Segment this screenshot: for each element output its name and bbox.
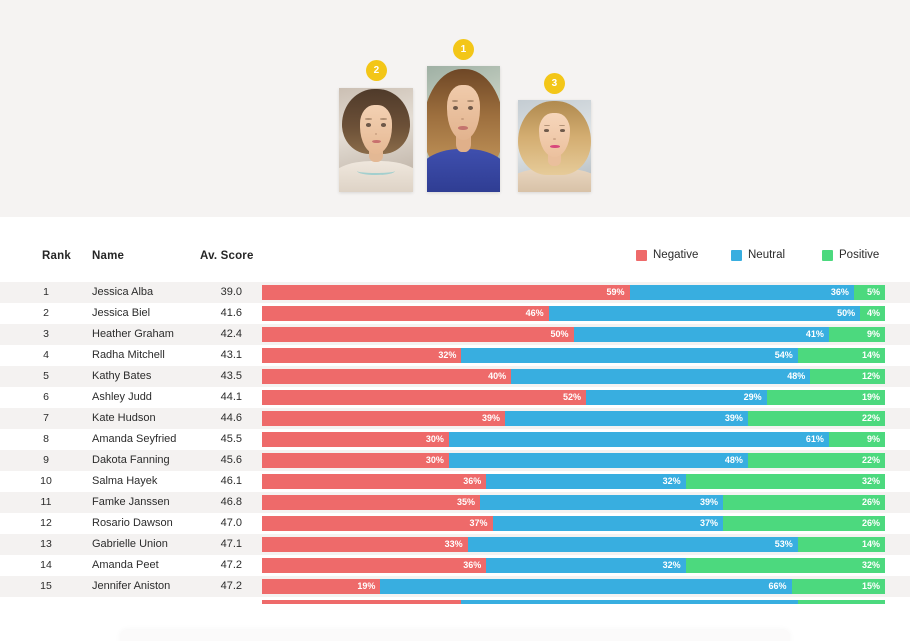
bar-label-neutral: 48% — [787, 369, 810, 384]
cell-name: Famke Janssen — [92, 492, 170, 513]
bar-label-positive: 15% — [862, 579, 885, 594]
stacked-bar: 37%37%26% — [262, 516, 885, 531]
bar-segment-negative: 30% — [262, 453, 449, 468]
table-row[interactable]: 3Heather Graham42.450%41%9% — [0, 324, 910, 345]
bar-segment-positive: 15% — [792, 579, 885, 594]
bar-label-negative: 33% — [445, 537, 468, 552]
table-row[interactable]: 2Jessica Biel41.646%50%4% — [0, 303, 910, 324]
page-bottom-shadow — [120, 630, 790, 641]
stacked-bar: 30%61%9% — [262, 432, 885, 447]
cell-score: 47.2 — [196, 576, 242, 597]
cell-name: Kathy Bates — [92, 366, 151, 387]
cell-rank: 15 — [28, 576, 64, 597]
bar-label-positive: 14% — [862, 537, 885, 552]
table-header-row: Rank Name Av. Score Negative Neutral Pos… — [0, 217, 910, 282]
bar-segment-positive: 26% — [723, 516, 885, 531]
stacked-bar: 36%32%32% — [262, 558, 885, 573]
cell-name: Radha Mitchell — [92, 345, 165, 366]
podium-badge-2: 2 — [366, 60, 387, 81]
bar-label-neutral: 41% — [806, 327, 829, 342]
bar-label-neutral: 66% — [769, 579, 792, 594]
table-row[interactable]: 12Rosario Dawson47.037%37%26% — [0, 513, 910, 534]
bar-segment-neutral: 32% — [486, 474, 685, 489]
table-row[interactable]: 5Kathy Bates43.540%48%12% — [0, 366, 910, 387]
legend-swatch-neutral — [731, 250, 742, 261]
cell-rank: 2 — [28, 303, 64, 324]
cell-rank: 12 — [28, 513, 64, 534]
bar-segment-neutral: 29% — [586, 390, 767, 405]
stacked-bar: 30%48%22% — [262, 453, 885, 468]
cell-name: Heather Graham — [92, 324, 174, 345]
legend-swatch-negative — [636, 250, 647, 261]
cell-rank: 11 — [28, 492, 64, 513]
legend-swatch-positive — [822, 250, 833, 261]
cell-score: 47.0 — [196, 513, 242, 534]
cell-name: Jessica Biel — [92, 303, 150, 324]
stacked-bar: 35%39%26% — [262, 495, 885, 510]
bar-segment-negative: 33% — [262, 537, 468, 552]
legend-label-negative: Negative — [653, 247, 698, 263]
legend-label-positive: Positive — [839, 247, 879, 263]
cell-rank: 9 — [28, 450, 64, 471]
stacked-bar — [262, 600, 885, 604]
bar-label-neutral: 48% — [725, 453, 748, 468]
bar-segment-neutral: 48% — [511, 369, 810, 384]
bar-label-neutral: 32% — [663, 558, 686, 573]
bar-segment-neutral: 48% — [449, 453, 748, 468]
table-row[interactable]: 6Ashley Judd44.152%29%19% — [0, 387, 910, 408]
cell-rank: 5 — [28, 366, 64, 387]
bar-label-neutral: 61% — [806, 432, 829, 447]
table-row[interactable]: 13Gabrielle Union47.133%53%14% — [0, 534, 910, 555]
bar-segment-neutral: 41% — [574, 327, 829, 342]
bar-segment-positive: 14% — [798, 537, 885, 552]
legend-label-neutral: Neutral — [748, 247, 785, 263]
cell-score: 47.1 — [196, 534, 242, 555]
bar-label-neutral: 36% — [831, 285, 854, 300]
cell-rank: 7 — [28, 408, 64, 429]
table-row[interactable]: 8Amanda Seyfried45.530%61%9% — [0, 429, 910, 450]
table-row[interactable]: 9Dakota Fanning45.630%48%22% — [0, 450, 910, 471]
bar-segment-negative: 46% — [262, 306, 549, 321]
table-row[interactable]: 4Radha Mitchell43.132%54%14% — [0, 345, 910, 366]
portrait-image — [518, 100, 591, 192]
stacked-bar: 33%53%14% — [262, 537, 885, 552]
bar-label-negative: 46% — [526, 306, 549, 321]
stacked-bar: 39%39%22% — [262, 411, 885, 426]
bar-segment-positive: 32% — [686, 474, 885, 489]
bar-label-negative: 36% — [463, 474, 486, 489]
podium-photo-jessica-alba[interactable] — [427, 66, 500, 192]
bar-label-positive: 32% — [862, 558, 885, 573]
table-row[interactable]: 1Jessica Alba39.059%36%5% — [0, 282, 910, 303]
cell-score: 45.6 — [196, 450, 242, 471]
cell-rank: 6 — [28, 387, 64, 408]
bar-label-positive: 9% — [867, 432, 885, 447]
bar-segment-negative: 59% — [262, 285, 630, 300]
bar-segment-positive: 19% — [767, 390, 885, 405]
bar-label-negative: 39% — [482, 411, 505, 426]
bar-segment-positive: 9% — [829, 327, 885, 342]
cell-name: Amanda Seyfried — [92, 429, 176, 450]
bar-segment-positive: 26% — [723, 495, 885, 510]
table-row[interactable]: 10Salma Hayek46.136%32%32% — [0, 471, 910, 492]
cell-name: Ashley Judd — [92, 387, 152, 408]
bar-label-negative: 40% — [488, 369, 511, 384]
stacked-bar: 19%66%15% — [262, 579, 885, 594]
portrait-image — [427, 66, 500, 192]
column-header-rank: Rank — [42, 250, 71, 262]
podium-banner: 2 — [0, 0, 910, 217]
cell-rank: 14 — [28, 555, 64, 576]
cell-name: Rosario Dawson — [92, 513, 173, 534]
column-header-name: Name — [92, 250, 124, 262]
stacked-bar: 36%32%32% — [262, 474, 885, 489]
bar-label-positive: 4% — [867, 306, 885, 321]
podium-badge-1: 1 — [453, 39, 474, 60]
podium-badge-3: 3 — [544, 73, 565, 94]
bar-label-negative: 35% — [457, 495, 480, 510]
cell-score: 43.5 — [196, 366, 242, 387]
bar-segment-neutral: 66% — [380, 579, 791, 594]
cell-name: Dakota Fanning — [92, 450, 170, 471]
podium-stage: 2 — [0, 0, 910, 217]
bar-segment-negative: 36% — [262, 558, 486, 573]
table-row[interactable]: 7Kate Hudson44.639%39%22% — [0, 408, 910, 429]
bar-segment-positive: 32% — [686, 558, 885, 573]
stacked-bar: 52%29%19% — [262, 390, 885, 405]
bar-label-neutral: 32% — [663, 474, 686, 489]
bar-label-negative: 30% — [426, 453, 449, 468]
bar-segment-positive: 14% — [798, 348, 885, 363]
bar-label-positive: 26% — [862, 516, 885, 531]
bar-segment-negative: 39% — [262, 411, 505, 426]
cell-rank: 13 — [28, 534, 64, 555]
bar-label-neutral: 37% — [700, 516, 723, 531]
cell-rank: 8 — [28, 429, 64, 450]
cell-score: 46.8 — [196, 492, 242, 513]
table-body: 1Jessica Alba39.059%36%5%2Jessica Biel41… — [0, 282, 910, 597]
bar-segment-negative: 50% — [262, 327, 574, 342]
bar-segment-negative: 35% — [262, 495, 480, 510]
bar-segment-neutral: 32% — [486, 558, 685, 573]
bar-segment-negative: 36% — [262, 474, 486, 489]
column-header-score: Av. Score — [200, 250, 254, 262]
bar-segment-negative: 32% — [262, 348, 461, 363]
bar-label-neutral: 39% — [700, 495, 723, 510]
cell-name: Salma Hayek — [92, 471, 157, 492]
bar-label-positive: 9% — [867, 327, 885, 342]
cell-score: 43.1 — [196, 345, 242, 366]
bar-label-negative: 59% — [607, 285, 630, 300]
bar-segment-neutral: 61% — [449, 432, 829, 447]
bar-label-positive: 12% — [862, 369, 885, 384]
bar-label-positive: 26% — [862, 495, 885, 510]
bar-label-negative: 19% — [357, 579, 380, 594]
bar-label-positive: 32% — [862, 474, 885, 489]
cell-rank: 1 — [28, 282, 64, 303]
bar-segment-positive: 22% — [748, 453, 885, 468]
bar-segment-neutral: 36% — [630, 285, 854, 300]
table-row[interactable]: 11Famke Janssen46.835%39%26% — [0, 492, 910, 513]
bar-segment-negative: 19% — [262, 579, 380, 594]
cell-name: Jessica Alba — [92, 282, 153, 303]
table-row-partial — [0, 600, 910, 604]
cell-score: 45.5 — [196, 429, 242, 450]
bar-label-negative: 36% — [463, 558, 486, 573]
ranking-infographic: 2 — [0, 0, 910, 641]
cell-score: 44.1 — [196, 387, 242, 408]
ranking-table: Rank Name Av. Score Negative Neutral Pos… — [0, 217, 910, 641]
bar-segment-neutral: 39% — [480, 495, 723, 510]
bar-label-neutral: 53% — [775, 537, 798, 552]
cell-name: Jennifer Aniston — [92, 576, 170, 597]
bar-segment-positive: 4% — [860, 306, 885, 321]
bar-label-positive: 14% — [862, 348, 885, 363]
bar-segment-positive — [798, 600, 885, 604]
bar-segment-neutral: 39% — [505, 411, 748, 426]
stacked-bar: 59%36%5% — [262, 285, 885, 300]
cell-name: Kate Hudson — [92, 408, 156, 429]
bar-label-negative: 52% — [563, 390, 586, 405]
bar-label-neutral: 54% — [775, 348, 798, 363]
cell-score: 46.1 — [196, 471, 242, 492]
bar-segment-neutral: 50% — [549, 306, 861, 321]
bar-label-positive: 22% — [862, 411, 885, 426]
bar-label-neutral: 29% — [744, 390, 767, 405]
cell-rank: 3 — [28, 324, 64, 345]
cell-score: 44.6 — [196, 408, 242, 429]
bar-segment-neutral: 37% — [493, 516, 724, 531]
portrait-image — [339, 88, 413, 192]
bar-label-negative: 37% — [469, 516, 492, 531]
stacked-bar: 50%41%9% — [262, 327, 885, 342]
bar-segment-negative: 30% — [262, 432, 449, 447]
bar-segment-neutral: 53% — [468, 537, 798, 552]
table-row[interactable]: 15Jennifer Aniston47.219%66%15% — [0, 576, 910, 597]
bar-segment-negative — [262, 600, 461, 604]
bar-label-positive: 5% — [867, 285, 885, 300]
cell-score: 47.2 — [196, 555, 242, 576]
bar-segment-negative: 52% — [262, 390, 586, 405]
podium-photo-jessica-biel[interactable] — [339, 88, 413, 192]
bar-segment-neutral — [461, 600, 797, 604]
bar-label-positive: 22% — [862, 453, 885, 468]
cell-score: 39.0 — [196, 282, 242, 303]
bar-segment-positive: 5% — [854, 285, 885, 300]
bar-label-negative: 32% — [438, 348, 461, 363]
stacked-bar: 32%54%14% — [262, 348, 885, 363]
cell-rank: 10 — [28, 471, 64, 492]
bar-label-negative: 30% — [426, 432, 449, 447]
bar-segment-negative: 37% — [262, 516, 493, 531]
stacked-bar: 46%50%4% — [262, 306, 885, 321]
cell-name: Gabrielle Union — [92, 534, 168, 555]
bar-segment-positive: 9% — [829, 432, 885, 447]
stacked-bar: 40%48%12% — [262, 369, 885, 384]
bar-segment-positive: 22% — [748, 411, 885, 426]
bar-segment-neutral: 54% — [461, 348, 797, 363]
cell-score: 42.4 — [196, 324, 242, 345]
podium-photo-heather-graham[interactable] — [518, 100, 591, 192]
bar-label-neutral: 50% — [837, 306, 860, 321]
bar-label-negative: 50% — [550, 327, 573, 342]
cell-score: 41.6 — [196, 303, 242, 324]
cell-rank: 4 — [28, 345, 64, 366]
bar-segment-negative: 40% — [262, 369, 511, 384]
bar-label-positive: 19% — [862, 390, 885, 405]
bar-label-neutral: 39% — [725, 411, 748, 426]
cell-name: Amanda Peet — [92, 555, 159, 576]
bar-segment-positive: 12% — [810, 369, 885, 384]
table-row[interactable]: 14Amanda Peet47.236%32%32% — [0, 555, 910, 576]
